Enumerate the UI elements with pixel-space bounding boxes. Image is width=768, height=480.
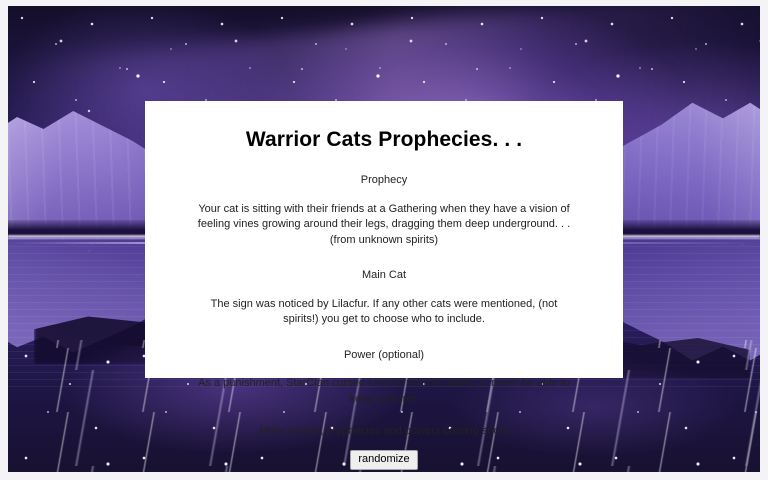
main-cat-section-text: The sign was noticed by Lilacfur. If any… — [193, 297, 575, 328]
coming-soon-note: More omens, prophecies and powers coming… — [193, 425, 575, 437]
page-title: Warrior Cats Prophecies. . . — [193, 127, 575, 153]
page-root: Warrior Cats Prophecies. . . Prophecy Yo… — [0, 0, 768, 480]
prophecy-section-text: Your cat is sitting with their friends a… — [193, 202, 575, 249]
prophecy-section-label: Prophecy — [193, 173, 575, 188]
main-cat-section-label: Main Cat — [193, 268, 575, 283]
power-section-label: Power (optional) — [193, 348, 575, 363]
prophecy-card: Warrior Cats Prophecies. . . Prophecy Yo… — [145, 101, 623, 378]
button-row: randomize — [193, 449, 575, 470]
power-section-text: As a punishment, StarClan cursed Lilacfu… — [193, 376, 575, 407]
randomize-button[interactable]: randomize — [350, 450, 417, 470]
